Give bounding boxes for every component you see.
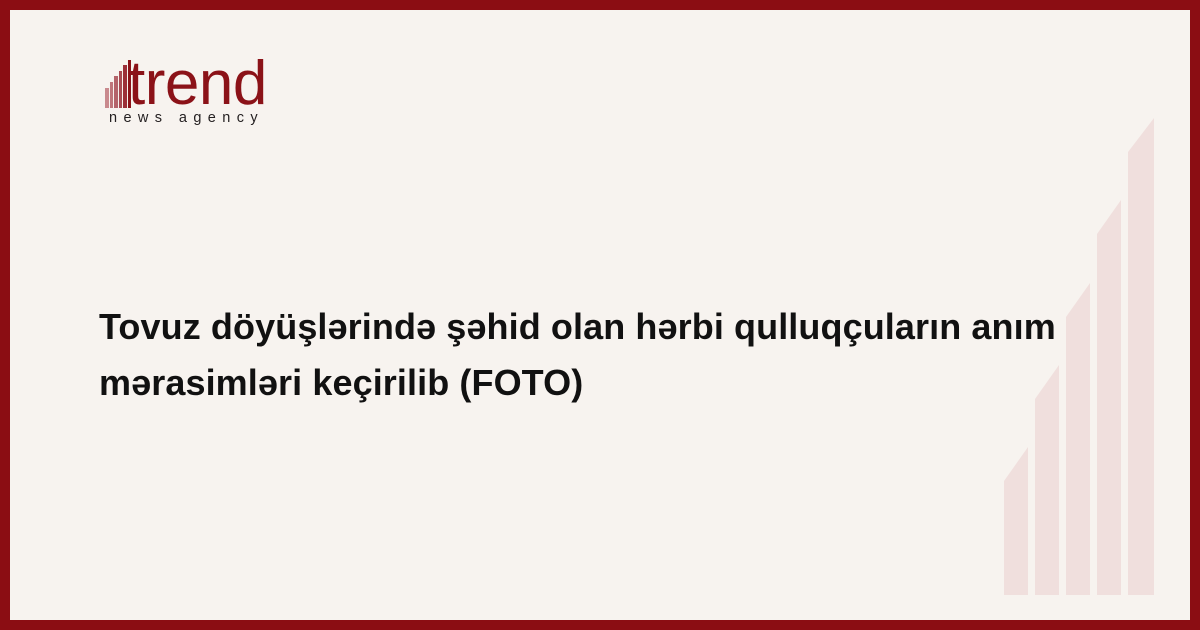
logo-mark-bar-1 bbox=[105, 88, 109, 108]
watermark-bar-1 bbox=[1004, 447, 1028, 595]
logo-tagline: news agency bbox=[109, 110, 264, 126]
watermark-bar-5 bbox=[1128, 118, 1154, 595]
card-inner-surface: trend news agency Tovuz döyüşlərində şəh… bbox=[10, 10, 1190, 620]
logo-mark-bar-5 bbox=[123, 65, 127, 108]
page-title: Tovuz döyüşlərində şəhid olan hərbi qull… bbox=[99, 299, 1099, 411]
trend-news-agency-logo[interactable]: trend news agency bbox=[99, 48, 284, 138]
watermark-bar-slope bbox=[1004, 447, 1028, 481]
watermark-bar-4 bbox=[1097, 200, 1121, 595]
share-card: trend news agency Tovuz döyüşlərində şəh… bbox=[0, 0, 1200, 630]
watermark-bar-slope bbox=[1097, 200, 1121, 234]
watermark-bar-slope bbox=[1128, 118, 1154, 152]
logo-mark-bar-3 bbox=[114, 76, 118, 108]
logo-mark-bar-4 bbox=[119, 71, 123, 108]
logo-mark-bar-2 bbox=[110, 82, 114, 108]
